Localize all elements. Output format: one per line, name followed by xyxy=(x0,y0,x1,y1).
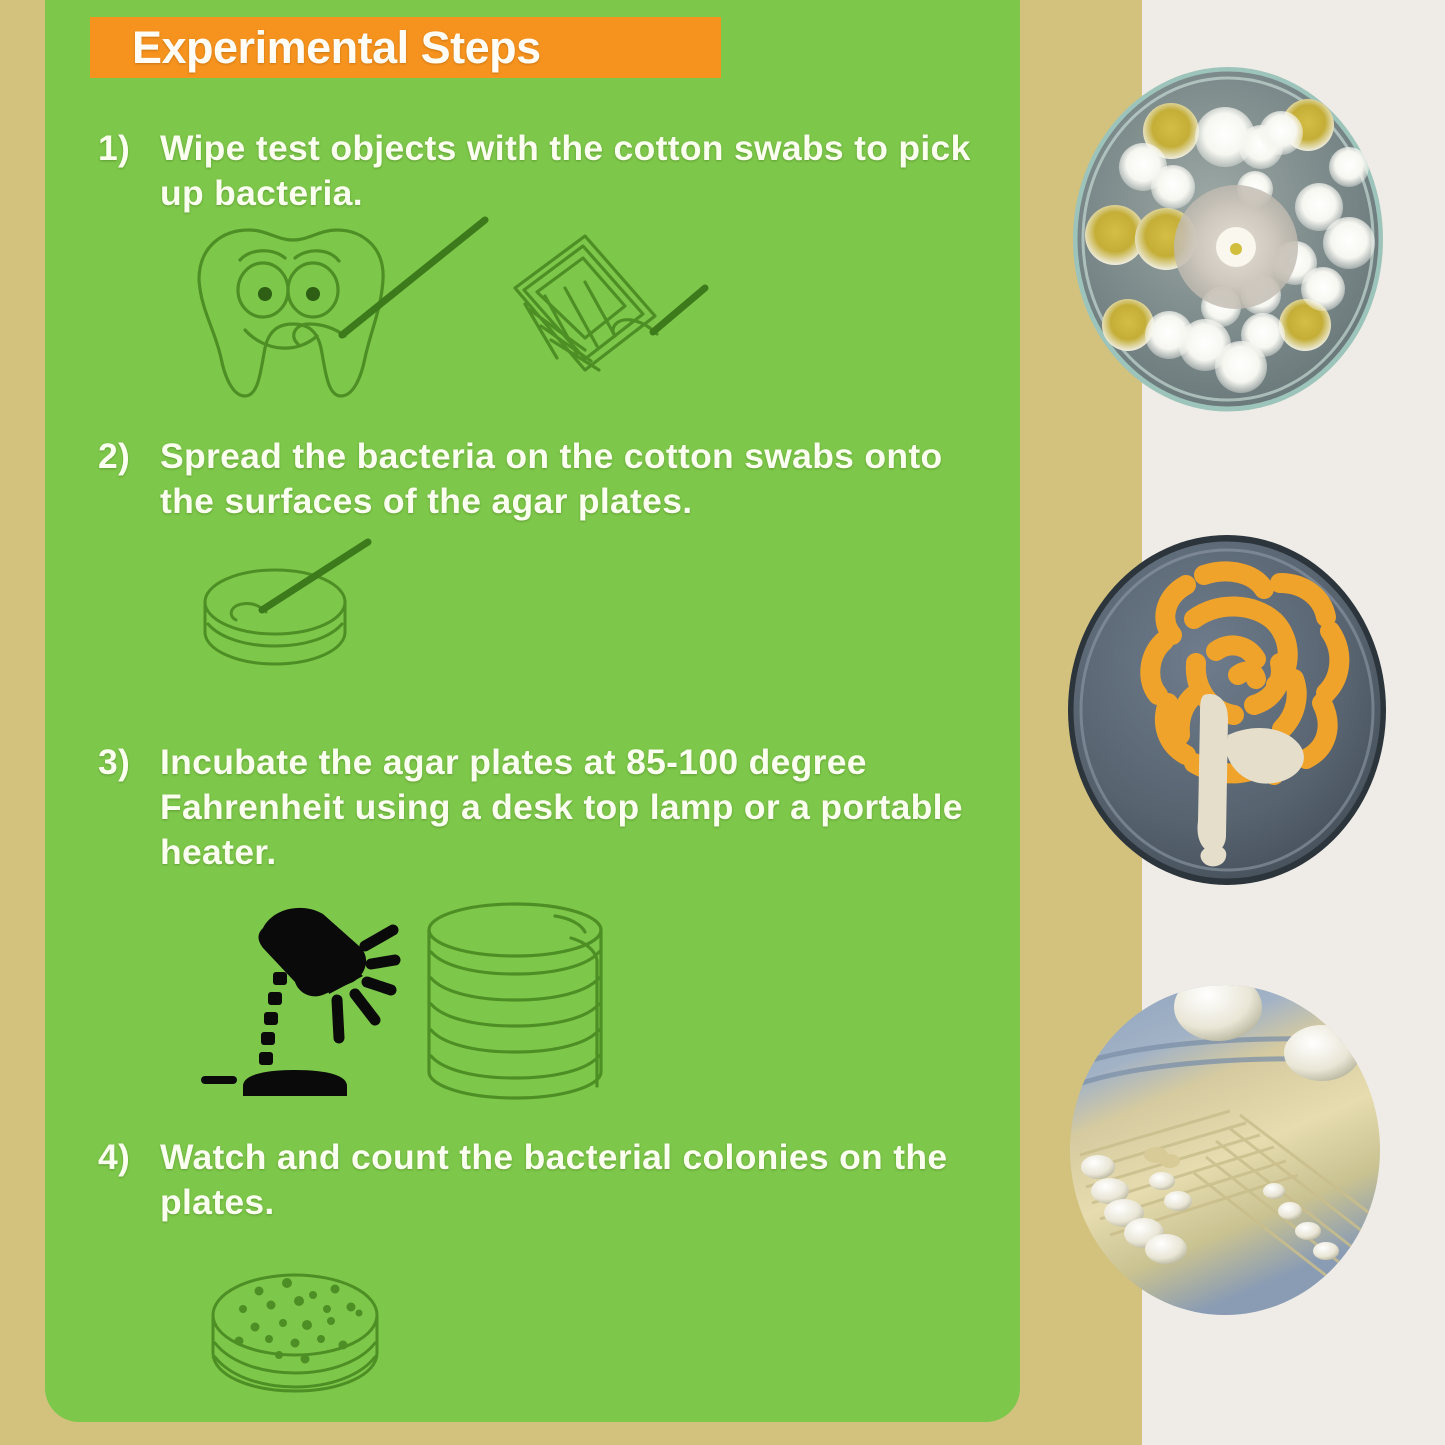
agar-plate-icon xyxy=(205,570,345,664)
cotton-swab-icon-1 xyxy=(294,220,485,344)
experimental-steps-panel: Experimental Steps 1) Wipe test objects … xyxy=(45,0,1020,1422)
petri-dish-photo-flower-art xyxy=(1068,535,1386,885)
swab-over-agar-plate-illustration xyxy=(190,540,490,710)
cotton-swab-icon xyxy=(231,542,368,620)
step-1-number: 1) xyxy=(98,126,160,216)
lamp-and-plate-stack-illustration xyxy=(195,890,625,1115)
cellphone-icon xyxy=(515,236,655,370)
step-2-number: 2) xyxy=(98,434,160,524)
step-3-number: 3) xyxy=(98,740,160,875)
step-4-number: 4) xyxy=(98,1135,160,1225)
petri-dish-photo-closeup-colonies xyxy=(1070,985,1380,1315)
step-4-text: Watch and count the bacterial colonies o… xyxy=(160,1135,1003,1225)
step-1-text: Wipe test objects with the cotton swabs … xyxy=(160,126,1003,216)
step-2: 2) Spread the bacteria on the cotton swa… xyxy=(98,434,1003,524)
step-1: 1) Wipe test objects with the cotton swa… xyxy=(98,126,1003,216)
tooth-and-cellphone-illustration xyxy=(185,218,705,413)
agar-plate-with-colonies-icon xyxy=(213,1275,377,1391)
colony-plate-illustration xyxy=(195,1255,485,1422)
step-3-text: Incubate the agar plates at 85-100 degre… xyxy=(160,740,1003,875)
header-banner: Experimental Steps xyxy=(90,17,721,78)
step-2-text: Spread the bacteria on the cotton swabs … xyxy=(160,434,1003,524)
step-4: 4) Watch and count the bacterial colonie… xyxy=(98,1135,1003,1225)
stacked-petri-dishes-icon xyxy=(429,904,601,1098)
page-title: Experimental Steps xyxy=(90,22,541,74)
petri-dish-photo-mold-colonies xyxy=(1073,67,1383,412)
tooth-icon xyxy=(199,230,383,396)
step-3: 3) Incubate the agar plates at 85-100 de… xyxy=(98,740,1003,875)
